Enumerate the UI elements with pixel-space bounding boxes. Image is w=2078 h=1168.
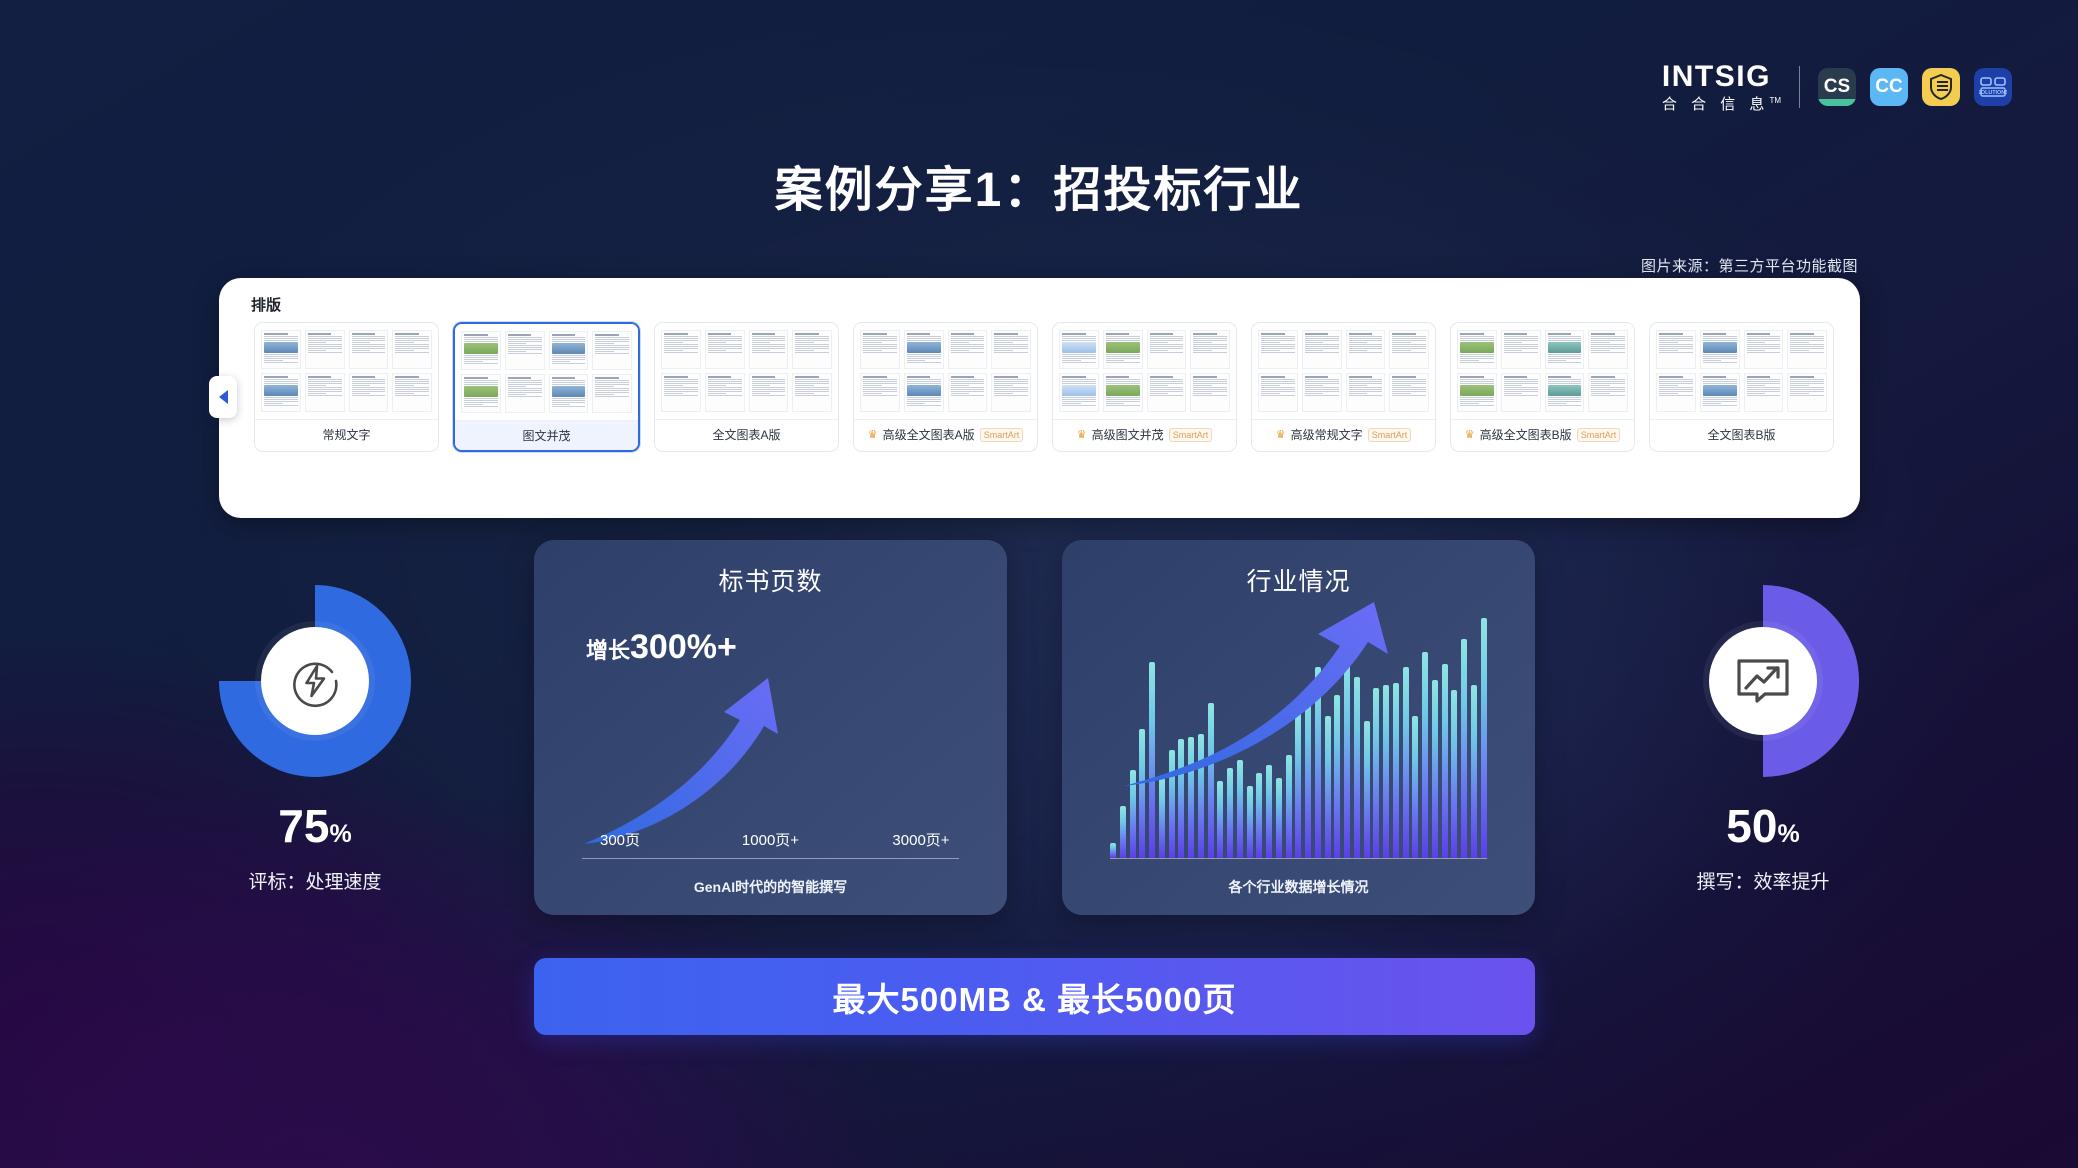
template-card-2[interactable]: 图文并茂 <box>453 322 640 452</box>
preview-text-line <box>1305 352 1339 353</box>
preview-text-line <box>1591 385 1610 386</box>
preview-text-line <box>395 344 429 345</box>
preview-text-line <box>1659 389 1693 390</box>
preview-text-line <box>1548 360 1567 361</box>
template-preview-page <box>305 330 345 369</box>
preview-text-line <box>1790 344 1824 345</box>
preview-text-line <box>1261 338 1295 339</box>
preview-text-line <box>1349 350 1368 351</box>
template-preview-page <box>661 330 701 369</box>
preview-text-line <box>595 386 614 387</box>
metric-number: 50 <box>1726 800 1777 852</box>
chart-axis <box>1110 858 1487 859</box>
preview-text-line <box>795 338 829 339</box>
chart-caption: 各个行业数据增长情况 <box>1062 877 1535 897</box>
template-preview-page <box>1103 330 1143 369</box>
preview-heading-line <box>595 377 619 379</box>
template-card-caption: ♛高级常规文字SmartArt <box>1252 419 1435 449</box>
template-preview-page <box>904 373 944 412</box>
template-preview-grid <box>1451 323 1634 419</box>
upward-curved-arrow-icon <box>1122 600 1442 800</box>
preview-text-line <box>464 341 498 342</box>
preview-text-line <box>1504 393 1523 394</box>
preview-heading-line <box>1150 376 1174 378</box>
brand-logo-bar: INTSIG 合 合 信 息TM CS CC SOLUTIONS <box>1662 62 2012 112</box>
preview-text-line <box>1460 403 1479 404</box>
preview-heading-line <box>1460 376 1484 378</box>
preview-text-line <box>1392 387 1426 388</box>
solutions-app-icon[interactable]: SOLUTIONS <box>1974 68 2012 106</box>
preview-text-line <box>907 336 941 337</box>
chart-caption: GenAI时代的的智能撰写 <box>534 877 1007 897</box>
preview-text-line <box>464 406 498 407</box>
preview-text-line <box>1150 389 1184 390</box>
preview-heading-line <box>508 334 532 336</box>
preview-text-line <box>1747 350 1766 351</box>
preview-heading-line <box>1305 333 1329 335</box>
preview-heading-line <box>464 377 488 379</box>
preview-text-line <box>1548 383 1582 384</box>
preview-text-line <box>395 391 429 392</box>
preview-text-line <box>552 363 586 364</box>
preview-text-line <box>951 342 970 343</box>
preview-text-line <box>664 348 698 349</box>
preview-text-line <box>1548 401 1582 402</box>
preview-text-line <box>752 395 786 396</box>
template-panel: 排版 常规文字图文并茂全文图表A版♛高级全文图表A版SmartArt♛高级图文并… <box>219 278 1860 518</box>
preview-text-line <box>1062 403 1081 404</box>
donut-center <box>261 627 369 735</box>
preview-text-line <box>664 391 698 392</box>
preview-heading-line <box>264 333 288 335</box>
preview-text-line <box>795 391 829 392</box>
preview-text-line <box>1747 338 1781 339</box>
preview-text-line <box>708 340 742 341</box>
intsig-chinese-text: 合 合 信 息 <box>1662 96 1770 113</box>
preview-text-line <box>552 382 586 383</box>
preview-text-line <box>708 342 727 343</box>
preview-text-line <box>1504 340 1538 341</box>
preview-text-line <box>1747 387 1781 388</box>
preview-text-line <box>552 398 586 399</box>
preview-heading-line <box>708 333 732 335</box>
preview-text-line <box>1193 379 1227 380</box>
preview-text-line <box>752 385 771 386</box>
template-card-8[interactable]: 全文图表B版 <box>1649 322 1834 452</box>
template-preview-page <box>1501 373 1541 412</box>
preview-text-line <box>1460 399 1494 400</box>
preview-text-line <box>552 380 586 381</box>
preview-text-line <box>708 391 742 392</box>
preview-text-line <box>595 341 629 342</box>
preview-text-line <box>1548 354 1582 355</box>
preview-text-line <box>595 339 629 340</box>
preview-text-line <box>1261 381 1295 382</box>
preview-heading-line <box>1305 376 1329 378</box>
preview-heading-line <box>708 376 732 378</box>
preview-text-line <box>907 405 941 406</box>
template-preview-page <box>1147 373 1187 412</box>
preview-text-line <box>1305 342 1324 343</box>
preview-image <box>1106 385 1140 396</box>
preview-text-line <box>708 389 742 390</box>
preview-text-line <box>1261 352 1295 353</box>
preview-text-line <box>395 340 429 341</box>
preview-text-line <box>1193 352 1227 353</box>
template-card-1[interactable]: 常规文字 <box>254 322 439 452</box>
template-preview-page <box>392 373 432 412</box>
preview-image <box>464 343 498 354</box>
template-preview-page <box>1258 373 1298 412</box>
preview-text-line <box>508 339 542 340</box>
preview-text-line <box>1193 338 1227 339</box>
preview-text-line <box>907 340 941 341</box>
preview-text-line <box>1703 399 1737 400</box>
template-card-label: 常规文字 <box>322 426 370 443</box>
preview-text-line <box>1790 381 1824 382</box>
preview-text-line <box>308 389 342 390</box>
preview-text-line <box>264 356 298 357</box>
preview-text-line <box>664 338 698 339</box>
preview-text-line <box>1504 342 1523 343</box>
shield-icon <box>1929 74 1953 100</box>
preview-text-line <box>1591 336 1625 337</box>
preview-text-line <box>264 360 283 361</box>
template-preview-grid <box>455 324 638 420</box>
preview-image <box>264 385 298 396</box>
preview-image <box>1548 385 1582 396</box>
preview-text-line <box>595 396 629 397</box>
preview-text-line <box>508 380 542 381</box>
preview-text-line <box>907 401 941 402</box>
preview-text-line <box>1504 379 1538 380</box>
preview-text-line <box>1460 358 1494 359</box>
preview-text-line <box>264 358 298 359</box>
template-card-caption: ♛高级全文图表A版SmartArt <box>854 419 1037 449</box>
preview-text-line <box>552 355 586 356</box>
preview-heading-line <box>1392 333 1416 335</box>
preview-image <box>907 385 941 396</box>
preview-text-line <box>863 393 882 394</box>
preview-text-line <box>1790 346 1824 347</box>
preview-text-line <box>1106 399 1140 400</box>
preview-heading-line <box>308 333 332 335</box>
preview-heading-line <box>552 377 576 379</box>
preview-text-line <box>1703 397 1737 398</box>
preview-text-line <box>1062 383 1096 384</box>
preview-text-line <box>994 352 1028 353</box>
preview-text-line <box>1150 393 1169 394</box>
preview-text-line <box>795 395 829 396</box>
preview-text-line <box>1504 344 1538 345</box>
preview-text-line <box>595 345 629 346</box>
preview-text-line <box>308 346 342 347</box>
preview-text-line <box>508 396 542 397</box>
preview-text-line <box>308 338 342 339</box>
preview-text-line <box>595 388 629 389</box>
preview-text-line <box>1305 338 1339 339</box>
preview-text-line <box>951 346 985 347</box>
preview-text-line <box>308 387 342 388</box>
preview-heading-line <box>352 376 376 378</box>
bar <box>1481 618 1487 858</box>
preview-text-line <box>1460 401 1494 402</box>
preview-text-line <box>1591 352 1625 353</box>
template-preview-page <box>1302 373 1342 412</box>
preview-text-line <box>595 337 629 338</box>
preview-text-line <box>1591 338 1625 339</box>
preview-text-line <box>1591 348 1625 349</box>
preview-text-line <box>907 358 941 359</box>
preview-text-line <box>595 343 614 344</box>
template-card-3[interactable]: 全文图表A版 <box>654 322 839 452</box>
preview-text-line <box>752 387 786 388</box>
preview-text-line <box>1261 379 1295 380</box>
preview-heading-line <box>1150 333 1174 335</box>
preview-text-line <box>1150 352 1184 353</box>
preview-text-line <box>1790 393 1809 394</box>
preview-text-line <box>1106 405 1140 406</box>
preview-text-line <box>1305 387 1339 388</box>
preview-heading-line <box>264 376 288 378</box>
preview-text-line <box>464 400 498 401</box>
preview-text-line <box>1349 379 1383 380</box>
preview-text-line <box>1504 389 1538 390</box>
template-preview-page <box>948 330 988 369</box>
preview-text-line <box>1349 352 1383 353</box>
preview-text-line <box>1460 356 1494 357</box>
preview-text-line <box>1062 399 1096 400</box>
bar <box>1110 843 1116 858</box>
template-preview-page <box>349 373 389 412</box>
preview-heading-line <box>1392 376 1416 378</box>
preview-text-line <box>1392 395 1426 396</box>
preview-text-line <box>1193 389 1227 390</box>
bar <box>1451 690 1457 858</box>
chevron-left-glyph <box>219 390 228 404</box>
preview-heading-line <box>308 376 332 378</box>
preview-heading-line <box>1659 333 1683 335</box>
preview-text-line <box>795 379 829 380</box>
preview-text-line <box>863 395 897 396</box>
preview-image <box>552 343 586 354</box>
preview-text-line <box>1659 395 1693 396</box>
preview-text-line <box>752 391 786 392</box>
preview-text-line <box>308 381 342 382</box>
preview-text-line <box>1460 340 1494 341</box>
template-preview-page <box>1302 330 1342 369</box>
preview-text-line <box>1790 342 1809 343</box>
preview-text-line <box>752 344 786 345</box>
template-preview-page <box>461 374 501 413</box>
preview-text-line <box>1062 401 1096 402</box>
metric-writing-efficiency: 50% 撰写：效率提升 <box>1613 585 1913 894</box>
preview-text-line <box>1504 346 1538 347</box>
preview-text-line <box>1548 379 1582 380</box>
preview-text-line <box>1548 403 1567 404</box>
preview-text-line <box>1392 346 1426 347</box>
preview-image <box>1548 342 1582 353</box>
preview-heading-line <box>464 334 488 336</box>
template-card-6[interactable]: ♛高级常规文字SmartArt <box>1251 322 1436 452</box>
preview-text-line <box>464 355 498 356</box>
preview-text-line <box>1591 387 1625 388</box>
preview-text-line <box>552 339 586 340</box>
preview-heading-line <box>1504 333 1528 335</box>
preview-text-line <box>1659 391 1693 392</box>
preview-text-line <box>1703 379 1737 380</box>
preview-text-line <box>1659 350 1678 351</box>
preview-text-line <box>1150 395 1184 396</box>
preview-text-line <box>464 384 498 385</box>
preview-text-line <box>1548 381 1582 382</box>
preview-text-line <box>508 347 542 348</box>
preview-text-line <box>508 345 542 346</box>
preview-image <box>464 386 498 397</box>
template-preview-page <box>592 331 632 370</box>
donut-center <box>1709 627 1817 735</box>
cc-app-icon[interactable]: CC <box>1870 68 1908 106</box>
preview-text-line <box>264 399 298 400</box>
preview-text-line <box>1193 342 1212 343</box>
preview-text-line <box>1062 356 1096 357</box>
preview-text-line <box>664 387 698 388</box>
cs-app-icon[interactable]: CS <box>1818 68 1856 106</box>
preview-text-line <box>752 340 786 341</box>
preview-text-line <box>708 395 742 396</box>
bar-data-label: 300页 <box>600 829 640 850</box>
preview-text-line <box>664 393 683 394</box>
preview-text-line <box>308 391 342 392</box>
donut-chart-75 <box>219 585 411 777</box>
preview-heading-line <box>1703 333 1727 335</box>
preview-text-line <box>1747 381 1781 382</box>
preview-text-line <box>708 336 742 337</box>
template-preview-page <box>1744 330 1784 369</box>
preview-text-line <box>395 381 429 382</box>
chart-title: 行业情况 <box>1062 562 1535 598</box>
template-card-label: 高级全文图表A版 <box>883 426 975 443</box>
preview-text-line <box>951 393 970 394</box>
template-preview-page <box>1059 330 1099 369</box>
preview-text-line <box>664 379 698 380</box>
preview-text-line <box>1548 397 1582 398</box>
preview-text-line <box>595 349 629 350</box>
bar <box>1471 685 1477 858</box>
template-preview-page <box>792 373 832 412</box>
preview-text-line <box>1349 346 1383 347</box>
preview-text-line <box>1305 393 1324 394</box>
preview-text-line <box>264 362 298 363</box>
preview-text-line <box>264 383 298 384</box>
preview-text-line <box>464 398 498 399</box>
smartart-badge: SmartArt <box>1368 428 1412 442</box>
preview-text-line <box>1747 346 1781 347</box>
preview-text-line <box>1305 391 1339 392</box>
preview-text-line <box>1392 340 1426 341</box>
preview-text-line <box>951 350 970 351</box>
preview-text-line <box>1548 362 1582 363</box>
preview-text-line <box>508 392 542 393</box>
preview-text-line <box>708 393 727 394</box>
preview-text-line <box>1703 354 1737 355</box>
template-card-5[interactable]: ♛高级图文并茂SmartArt <box>1052 322 1237 452</box>
preview-text-line <box>1392 381 1426 382</box>
preview-heading-line <box>664 376 688 378</box>
preview-text-line <box>708 383 742 384</box>
preview-text-line <box>795 393 814 394</box>
preview-text-line <box>308 336 342 337</box>
chevron-left-icon[interactable] <box>209 376 237 418</box>
preview-text-line <box>1106 403 1125 404</box>
page-title: 案例分享1：招投标行业 <box>0 150 2078 220</box>
smartart-badge: SmartArt <box>1169 428 1213 442</box>
template-preview-page <box>1389 373 1429 412</box>
preview-text-line <box>1747 391 1781 392</box>
preview-text-line <box>1790 387 1824 388</box>
metric-value: 75% <box>165 803 465 849</box>
preview-text-line <box>951 379 985 380</box>
preview-text-line <box>1591 393 1610 394</box>
preview-text-line <box>994 348 1028 349</box>
preview-text-line <box>264 381 298 382</box>
template-card-7[interactable]: ♛高级全文图表B版SmartArt <box>1450 322 1635 452</box>
preview-text-line <box>1261 344 1295 345</box>
preview-text-line <box>1460 338 1494 339</box>
preview-text-line <box>951 395 985 396</box>
preview-text-line <box>1504 395 1538 396</box>
smartart-badge: SmartArt <box>980 428 1024 442</box>
capacity-banner: 最大500MB & 最长5000页 <box>534 958 1535 1035</box>
preview-text-line <box>752 389 786 390</box>
preview-text-line <box>464 357 498 358</box>
preview-text-line <box>1392 344 1426 345</box>
trademark-symbol: TM <box>1769 96 1781 105</box>
template-preview-page <box>461 331 501 370</box>
preview-text-line <box>464 380 498 381</box>
template-preview-page <box>860 330 900 369</box>
preview-text-line <box>1703 401 1737 402</box>
preview-text-line <box>664 389 698 390</box>
preview-text-line <box>1591 342 1610 343</box>
preview-text-line <box>1106 397 1140 398</box>
preview-image <box>552 386 586 397</box>
template-card-4[interactable]: ♛高级全文图表A版SmartArt <box>853 322 1038 452</box>
preview-text-line <box>795 383 829 384</box>
preview-text-line <box>1703 360 1722 361</box>
preview-text-line <box>1392 338 1426 339</box>
preview-text-line <box>508 337 542 338</box>
template-preview-page <box>305 373 345 412</box>
preview-text-line <box>951 340 985 341</box>
preview-text-line <box>552 404 571 405</box>
preview-text-line <box>308 344 342 345</box>
preview-image <box>264 342 298 353</box>
source-note: 图片来源：第三方平台功能截图 <box>1641 255 1858 276</box>
preview-text-line <box>1460 336 1494 337</box>
preview-text-line <box>1349 344 1383 345</box>
shield-app-icon[interactable] <box>1922 68 1960 106</box>
preview-text-line <box>994 346 1028 347</box>
preview-text-line <box>552 406 586 407</box>
metric-unit: % <box>1777 820 1799 848</box>
preview-text-line <box>1261 346 1295 347</box>
preview-text-line <box>1392 348 1426 349</box>
preview-text-line <box>708 346 742 347</box>
preview-text-line <box>352 383 386 384</box>
preview-text-line <box>308 393 327 394</box>
preview-text-line <box>264 397 298 398</box>
